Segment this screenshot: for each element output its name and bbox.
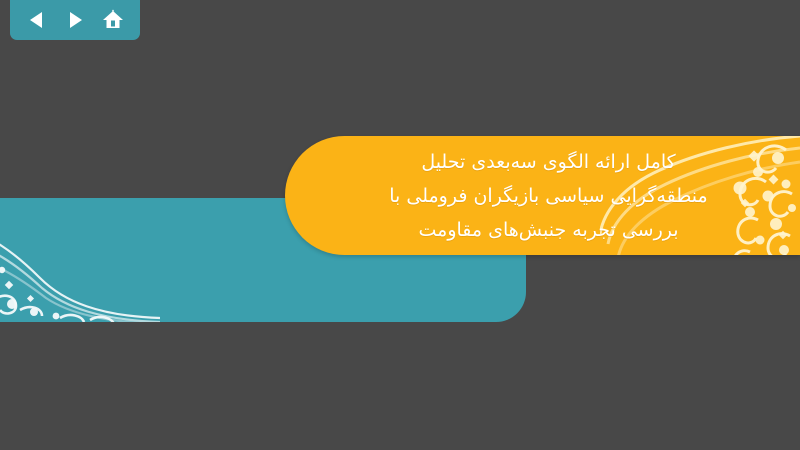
arabesque-ornament-icon	[0, 212, 160, 322]
home-icon	[102, 9, 124, 31]
home-button[interactable]	[100, 7, 126, 33]
title-line-2: منطقه‌گرایی سیاسی بازیگران فروملی با	[389, 179, 707, 213]
title-line-1: کامل ارائه الگوی سه‌بعدی تحلیل	[421, 145, 675, 179]
slide-title: کامل ارائه الگوی سه‌بعدی تحلیل منطقه‌گرا…	[285, 136, 800, 255]
back-button[interactable]	[24, 7, 50, 33]
title-banner: کامل ارائه الگوی سه‌بعدی تحلیل منطقه‌گرا…	[285, 136, 800, 255]
forward-button[interactable]	[62, 7, 88, 33]
forward-triangle-icon	[65, 10, 85, 30]
navigation-bar	[10, 0, 140, 40]
back-triangle-icon	[27, 10, 47, 30]
slide-canvas: کامل ارائه الگوی سه‌بعدی تحلیل منطقه‌گرا…	[0, 0, 800, 450]
title-line-3: بررسی تجربه جنبش‌های مقاومت	[418, 213, 678, 247]
